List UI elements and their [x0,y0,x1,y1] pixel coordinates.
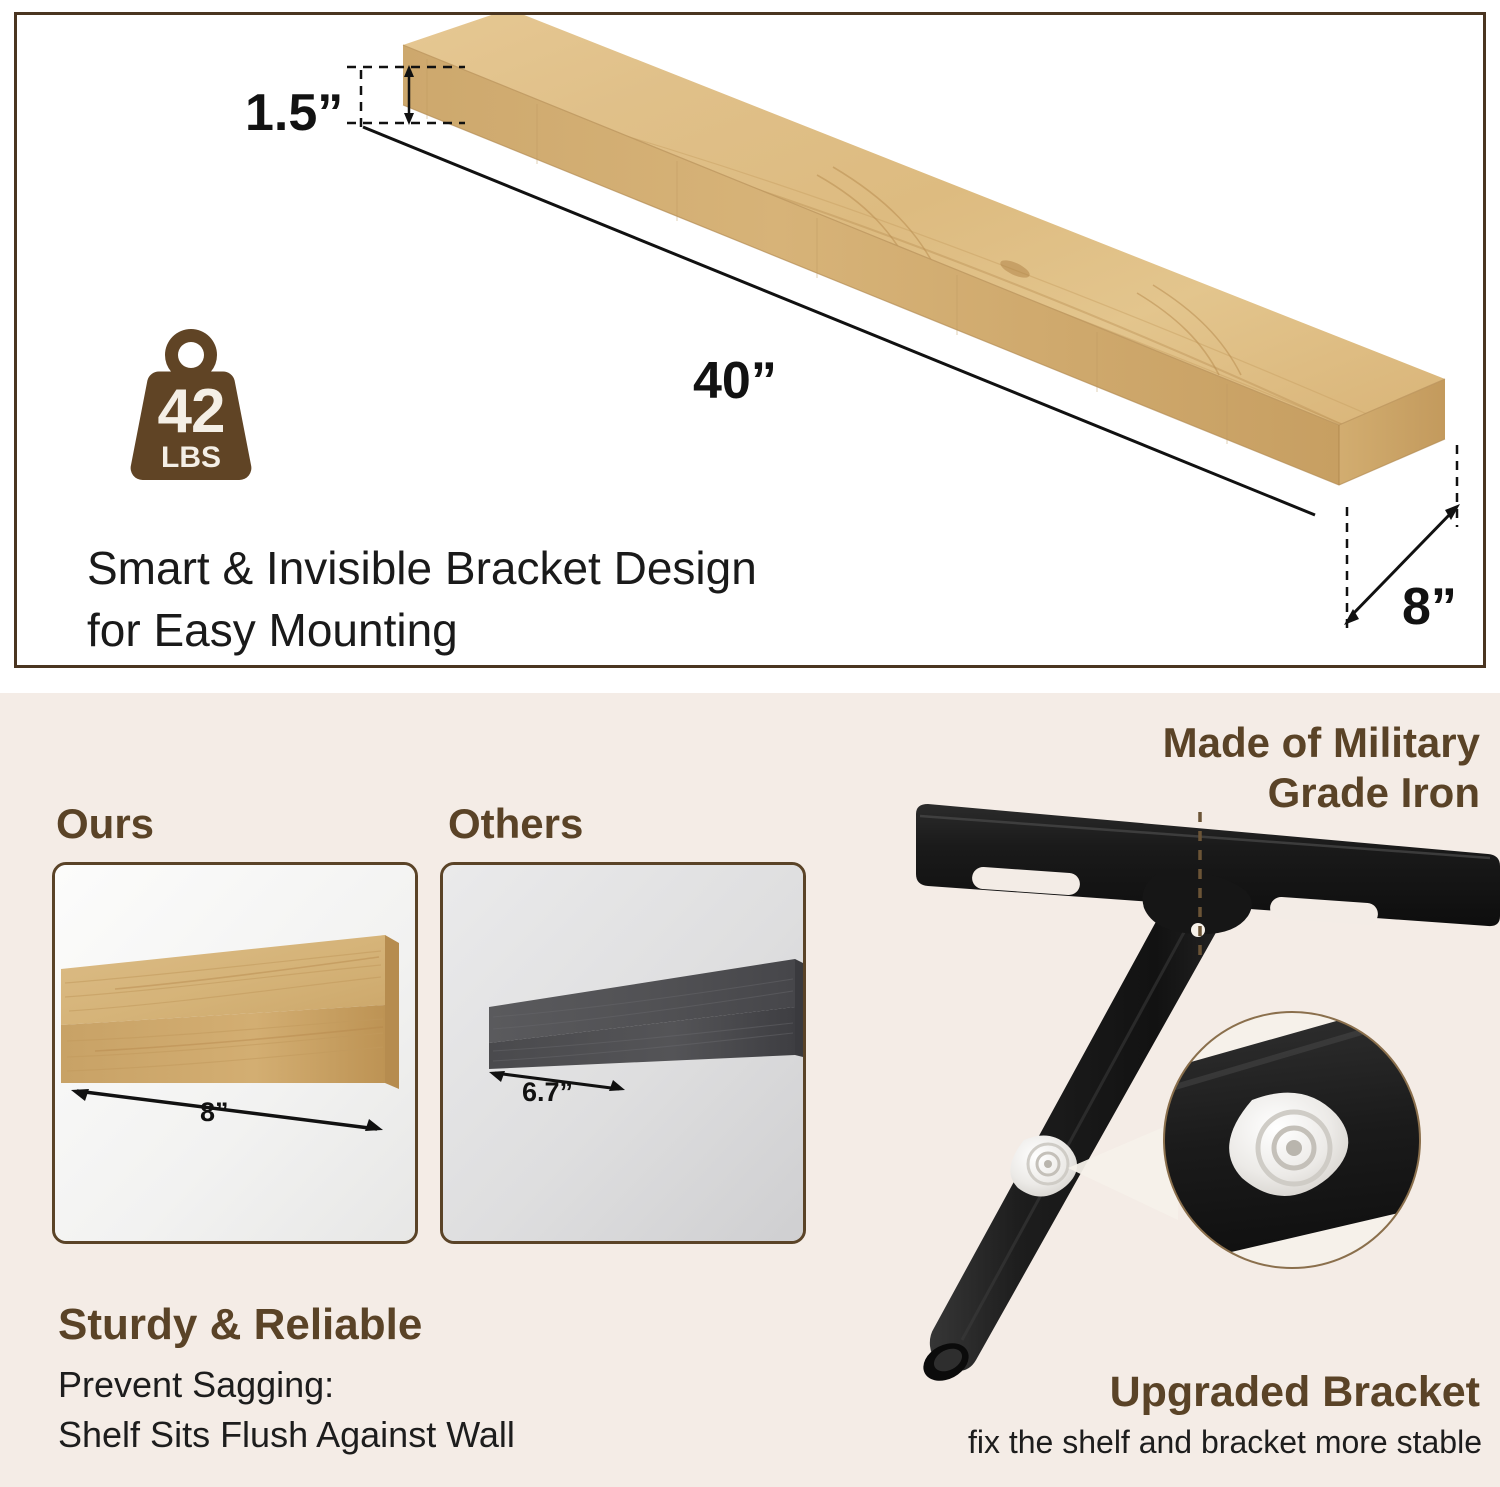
ours-label: Ours [56,800,154,848]
ours-photo [52,862,418,1244]
headline: Smart & Invisible Bracket Design for Eas… [87,537,907,661]
others-depth-label: 6.7” [522,1077,573,1108]
others-photo [440,862,806,1244]
bracket-callout-subtitle: fix the shelf and bracket more stable [770,1424,1482,1461]
iron-callout-leader-line [1180,808,1220,968]
weight-capacity-badge: 42 LBS [121,325,261,485]
thickness-label: 1.5” [245,83,343,143]
weight-value: 42 [121,381,261,443]
sturdy-body-line-2: Shelf Sits Flush Against Wall [58,1410,515,1460]
ours-depth-label: 8” [200,1097,229,1128]
bracket-callout-title: Upgraded Bracket [960,1368,1480,1417]
weight-unit: LBS [121,443,261,473]
depth-label: 8” [1402,577,1457,637]
magnified-screw-inset [1152,1001,1431,1268]
iron-callout-line-2: Grade Iron [1020,768,1480,818]
headline-line-1: Smart & Invisible Bracket Design [87,537,907,599]
iron-callout-title: Made of Military Grade Iron [1020,718,1480,818]
headline-line-2: for Easy Mounting [87,599,907,661]
sturdy-body: Prevent Sagging: Shelf Sits Flush Agains… [58,1360,515,1460]
shelf-illustration-stage: 42 LBS 1.5” 40” 8” Smart & Invisible Bra… [17,15,1483,665]
others-label: Others [448,800,583,848]
sturdy-title: Sturdy & Reliable [58,1300,422,1350]
sturdy-body-line-1: Prevent Sagging: [58,1360,515,1410]
iron-callout-line-1: Made of Military [1020,718,1480,768]
length-label: 40” [693,351,777,411]
top-panel: 42 LBS 1.5” 40” 8” Smart & Invisible Bra… [14,12,1486,668]
